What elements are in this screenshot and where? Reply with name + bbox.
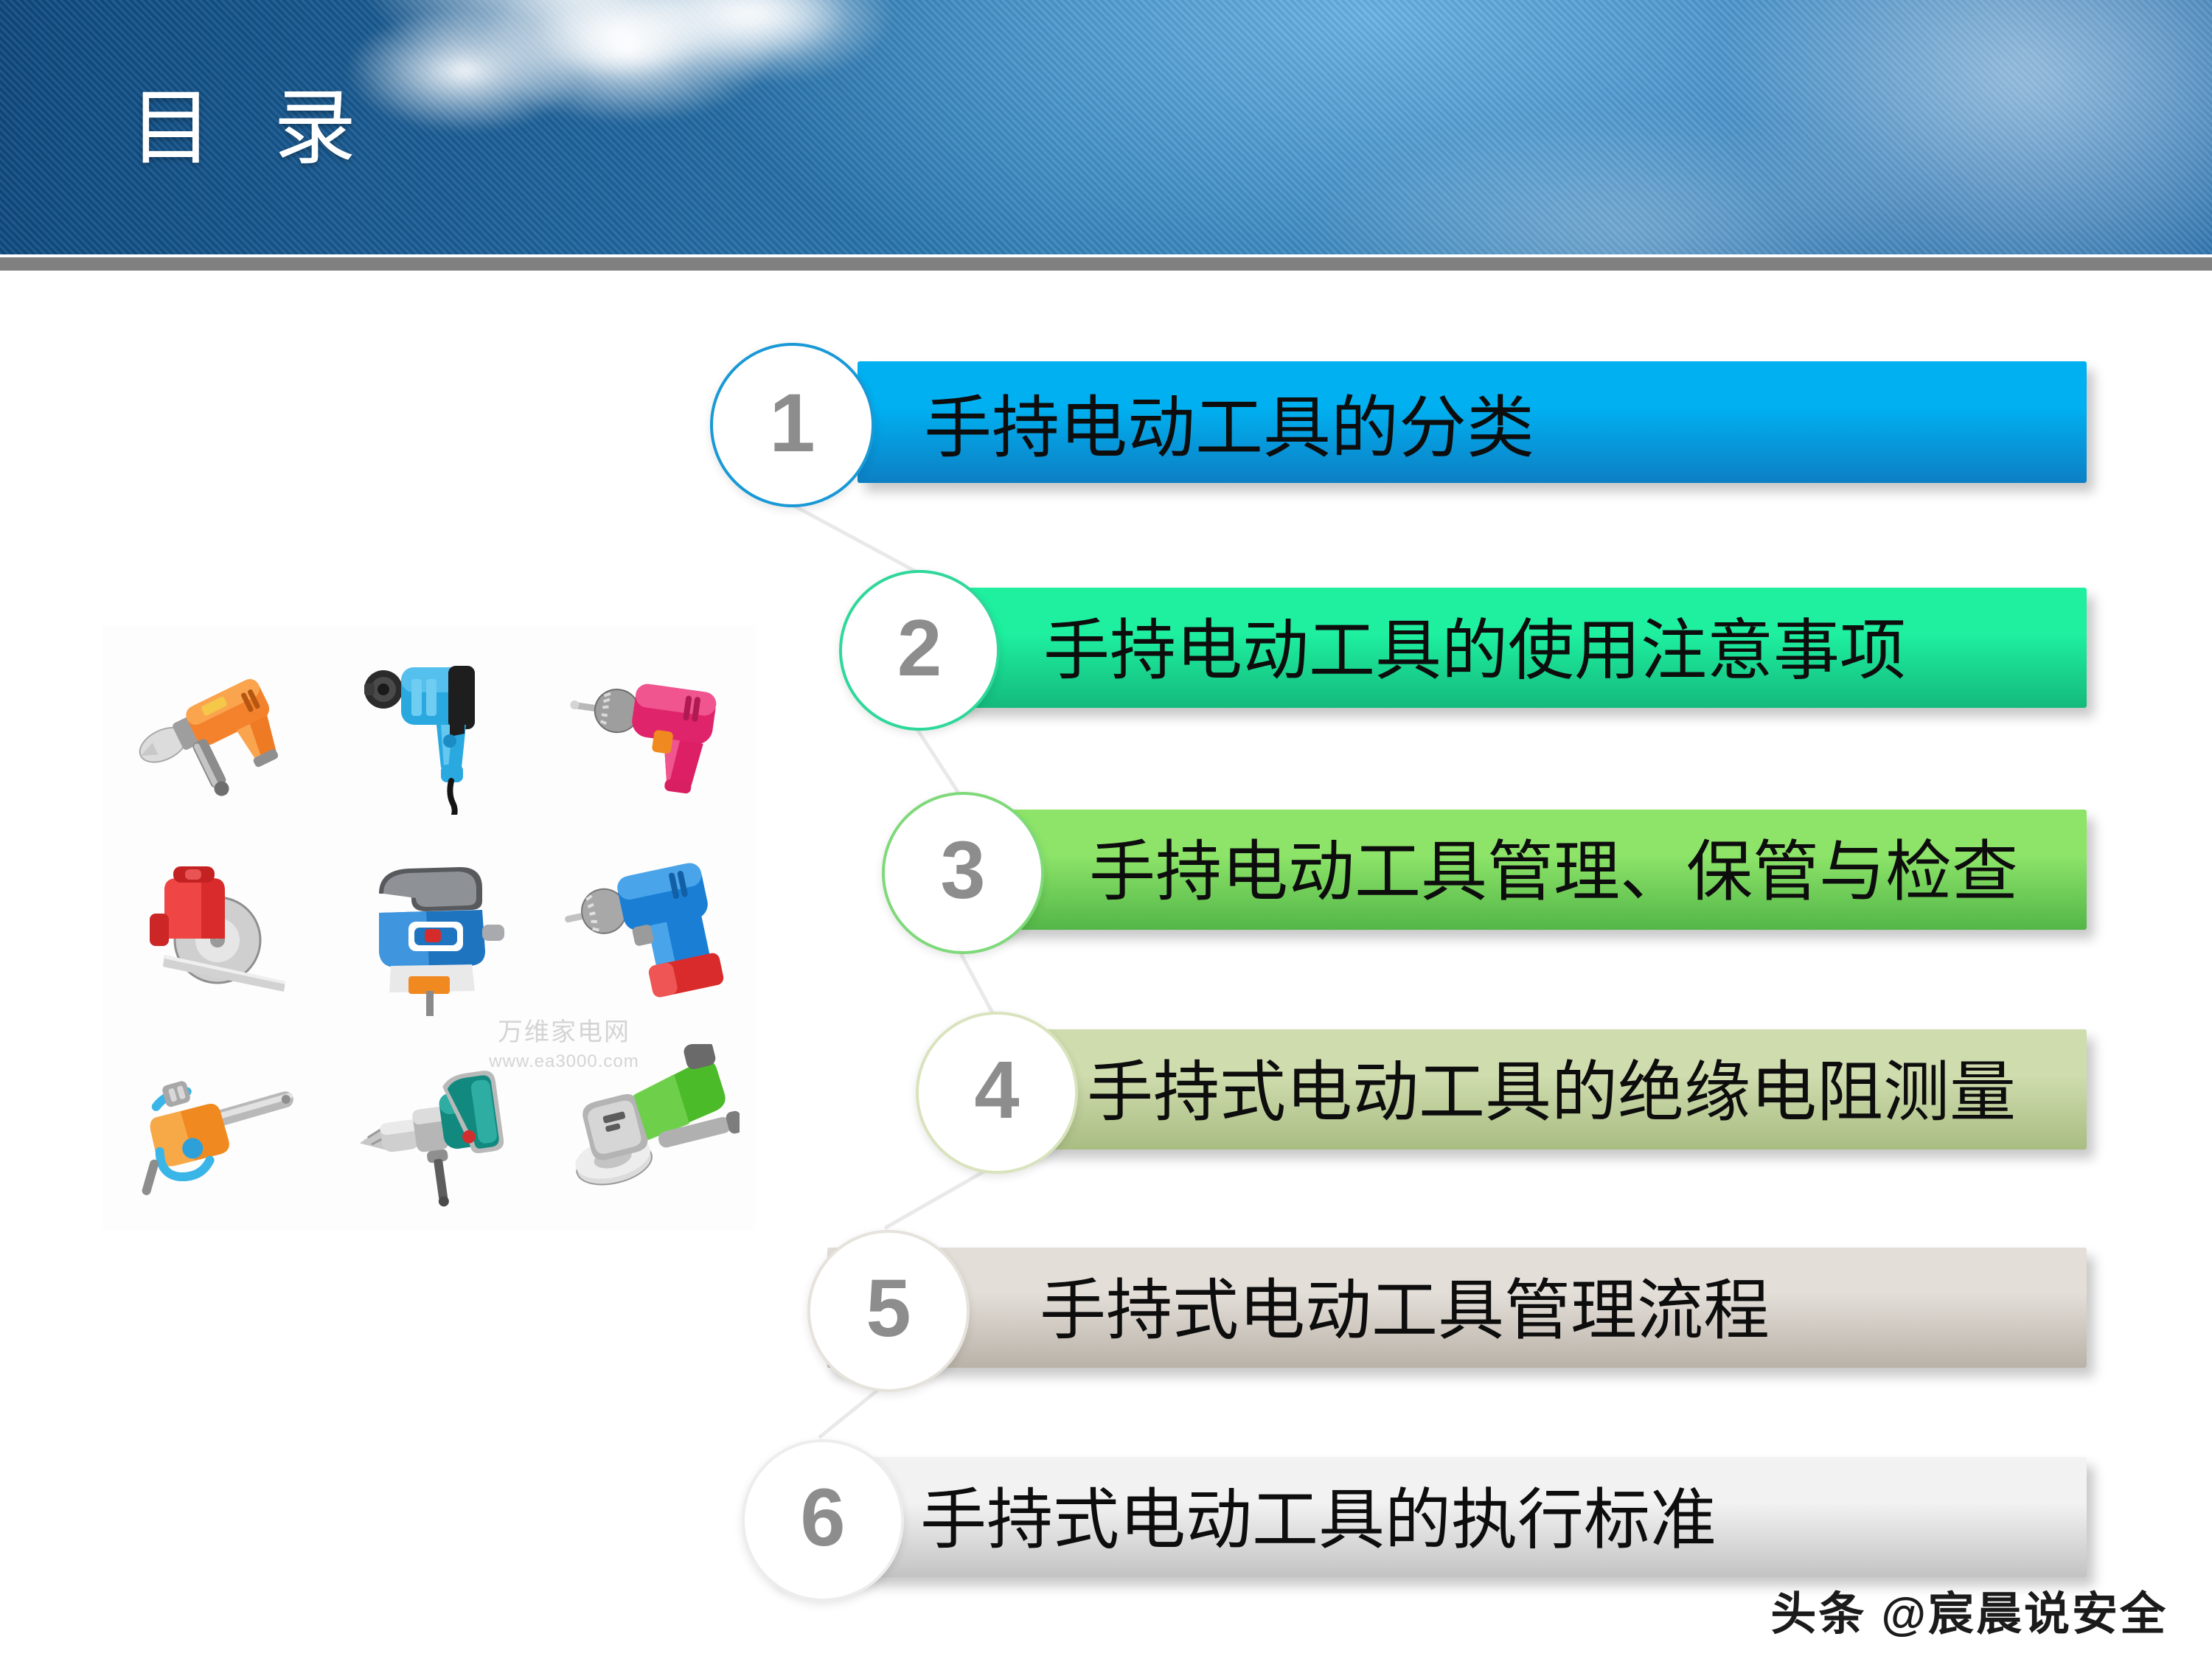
toc-number-3: 3 xyxy=(940,830,985,911)
toc-connector-line xyxy=(957,948,994,1013)
toc-connector-line xyxy=(787,501,917,573)
toc-label-1: 手持电动工具的分类 xyxy=(924,394,1534,462)
toc-label-5: 手持式电动工具管理流程 xyxy=(1040,1278,1770,1344)
toc-number-circle-3[interactable]: 3 xyxy=(882,792,1044,954)
toc-label-2: 手持电动工具的使用注意事项 xyxy=(1043,618,1906,684)
toc-number-4: 4 xyxy=(974,1050,1019,1131)
toc-connector-line xyxy=(818,1383,886,1439)
toc-number-1: 1 xyxy=(769,382,815,465)
toc-number-circle-6[interactable]: 6 xyxy=(742,1439,904,1601)
footer-watermark: 头条 @宸晨说安全 xyxy=(1770,1576,2168,1643)
toc-number-circle-2[interactable]: 2 xyxy=(839,570,1000,731)
toc-connector-line xyxy=(884,1165,994,1230)
toc-number-circle-5[interactable]: 5 xyxy=(807,1230,970,1392)
toc-number-5: 5 xyxy=(866,1268,911,1349)
toc-number-2: 2 xyxy=(897,608,942,689)
table-of-contents: 手持电动工具的分类1手持电动工具的使用注意事项2手持电动工具管理、保管与检查3手… xyxy=(0,0,2212,1659)
toc-label-3: 手持电动工具管理、保管与检查 xyxy=(1089,839,2018,905)
toc-connector-line xyxy=(914,725,960,794)
toc-label-6: 手持式电动工具的执行标准 xyxy=(920,1487,1717,1554)
toc-label-4: 手持式电动工具的绝缘电阻测量 xyxy=(1087,1060,2016,1126)
toc-number-6: 6 xyxy=(800,1478,845,1559)
toc-number-circle-4[interactable]: 4 xyxy=(916,1012,1078,1174)
toc-number-circle-1[interactable]: 1 xyxy=(710,343,874,507)
